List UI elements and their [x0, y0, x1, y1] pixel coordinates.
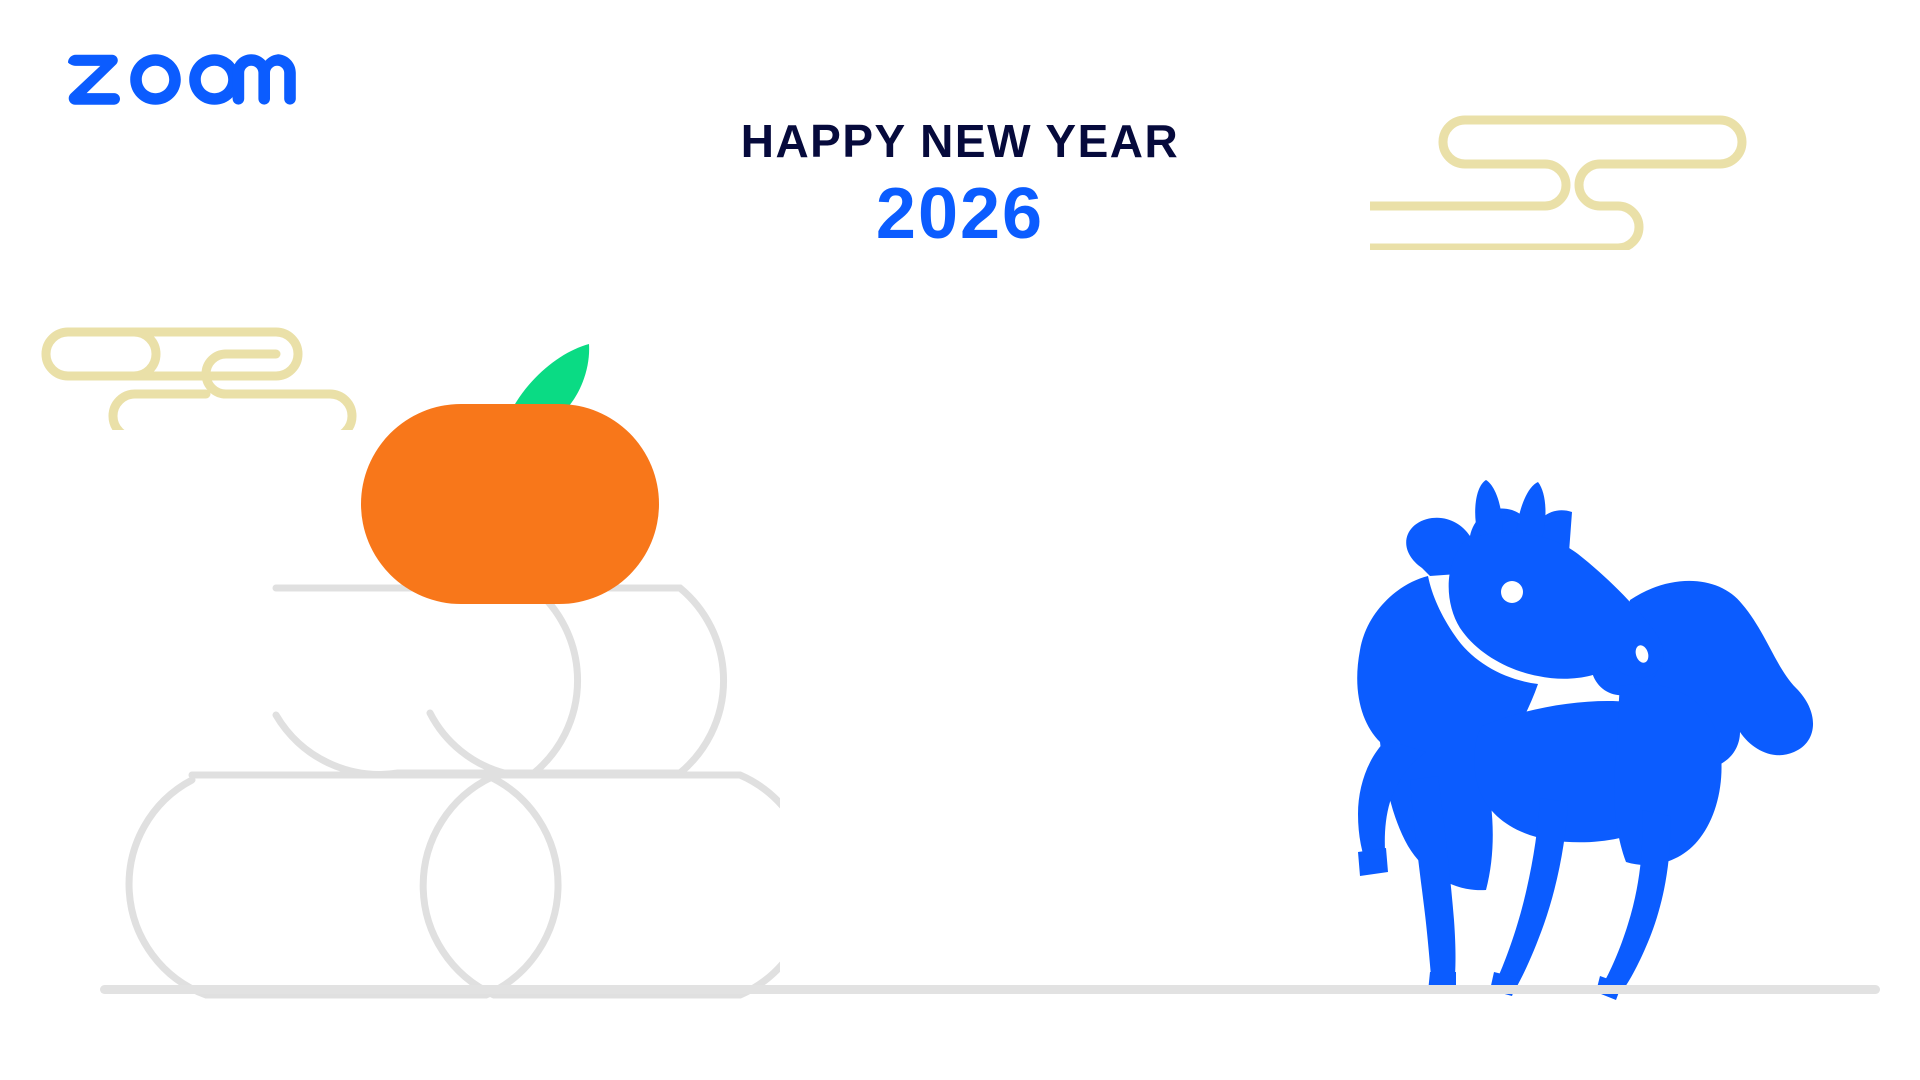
cloud-icon: [1370, 100, 1790, 250]
horse-icon: [1300, 480, 1840, 1000]
cloud-motif-left: [30, 310, 360, 430]
year-text: 2026: [560, 178, 1360, 250]
zoom-logo: [62, 48, 302, 110]
cloud-icon: [30, 310, 360, 430]
ground-line: [100, 985, 1880, 994]
horse-figure: [1300, 480, 1840, 1000]
mochi-stack: [80, 580, 780, 1000]
new-year-greeting-card: HAPPY NEW YEAR 2026: [0, 0, 1920, 1080]
headline-block: HAPPY NEW YEAR 2026: [560, 118, 1360, 250]
mochi-icon: [80, 580, 780, 1000]
greeting-text: HAPPY NEW YEAR: [560, 118, 1360, 164]
orange-body: [361, 404, 659, 604]
cloud-motif-right: [1370, 100, 1790, 250]
zoom-wordmark-icon: [62, 48, 302, 110]
orange-icon: [345, 330, 675, 620]
horse-eye: [1501, 581, 1523, 603]
mandarin-orange: [345, 330, 675, 620]
